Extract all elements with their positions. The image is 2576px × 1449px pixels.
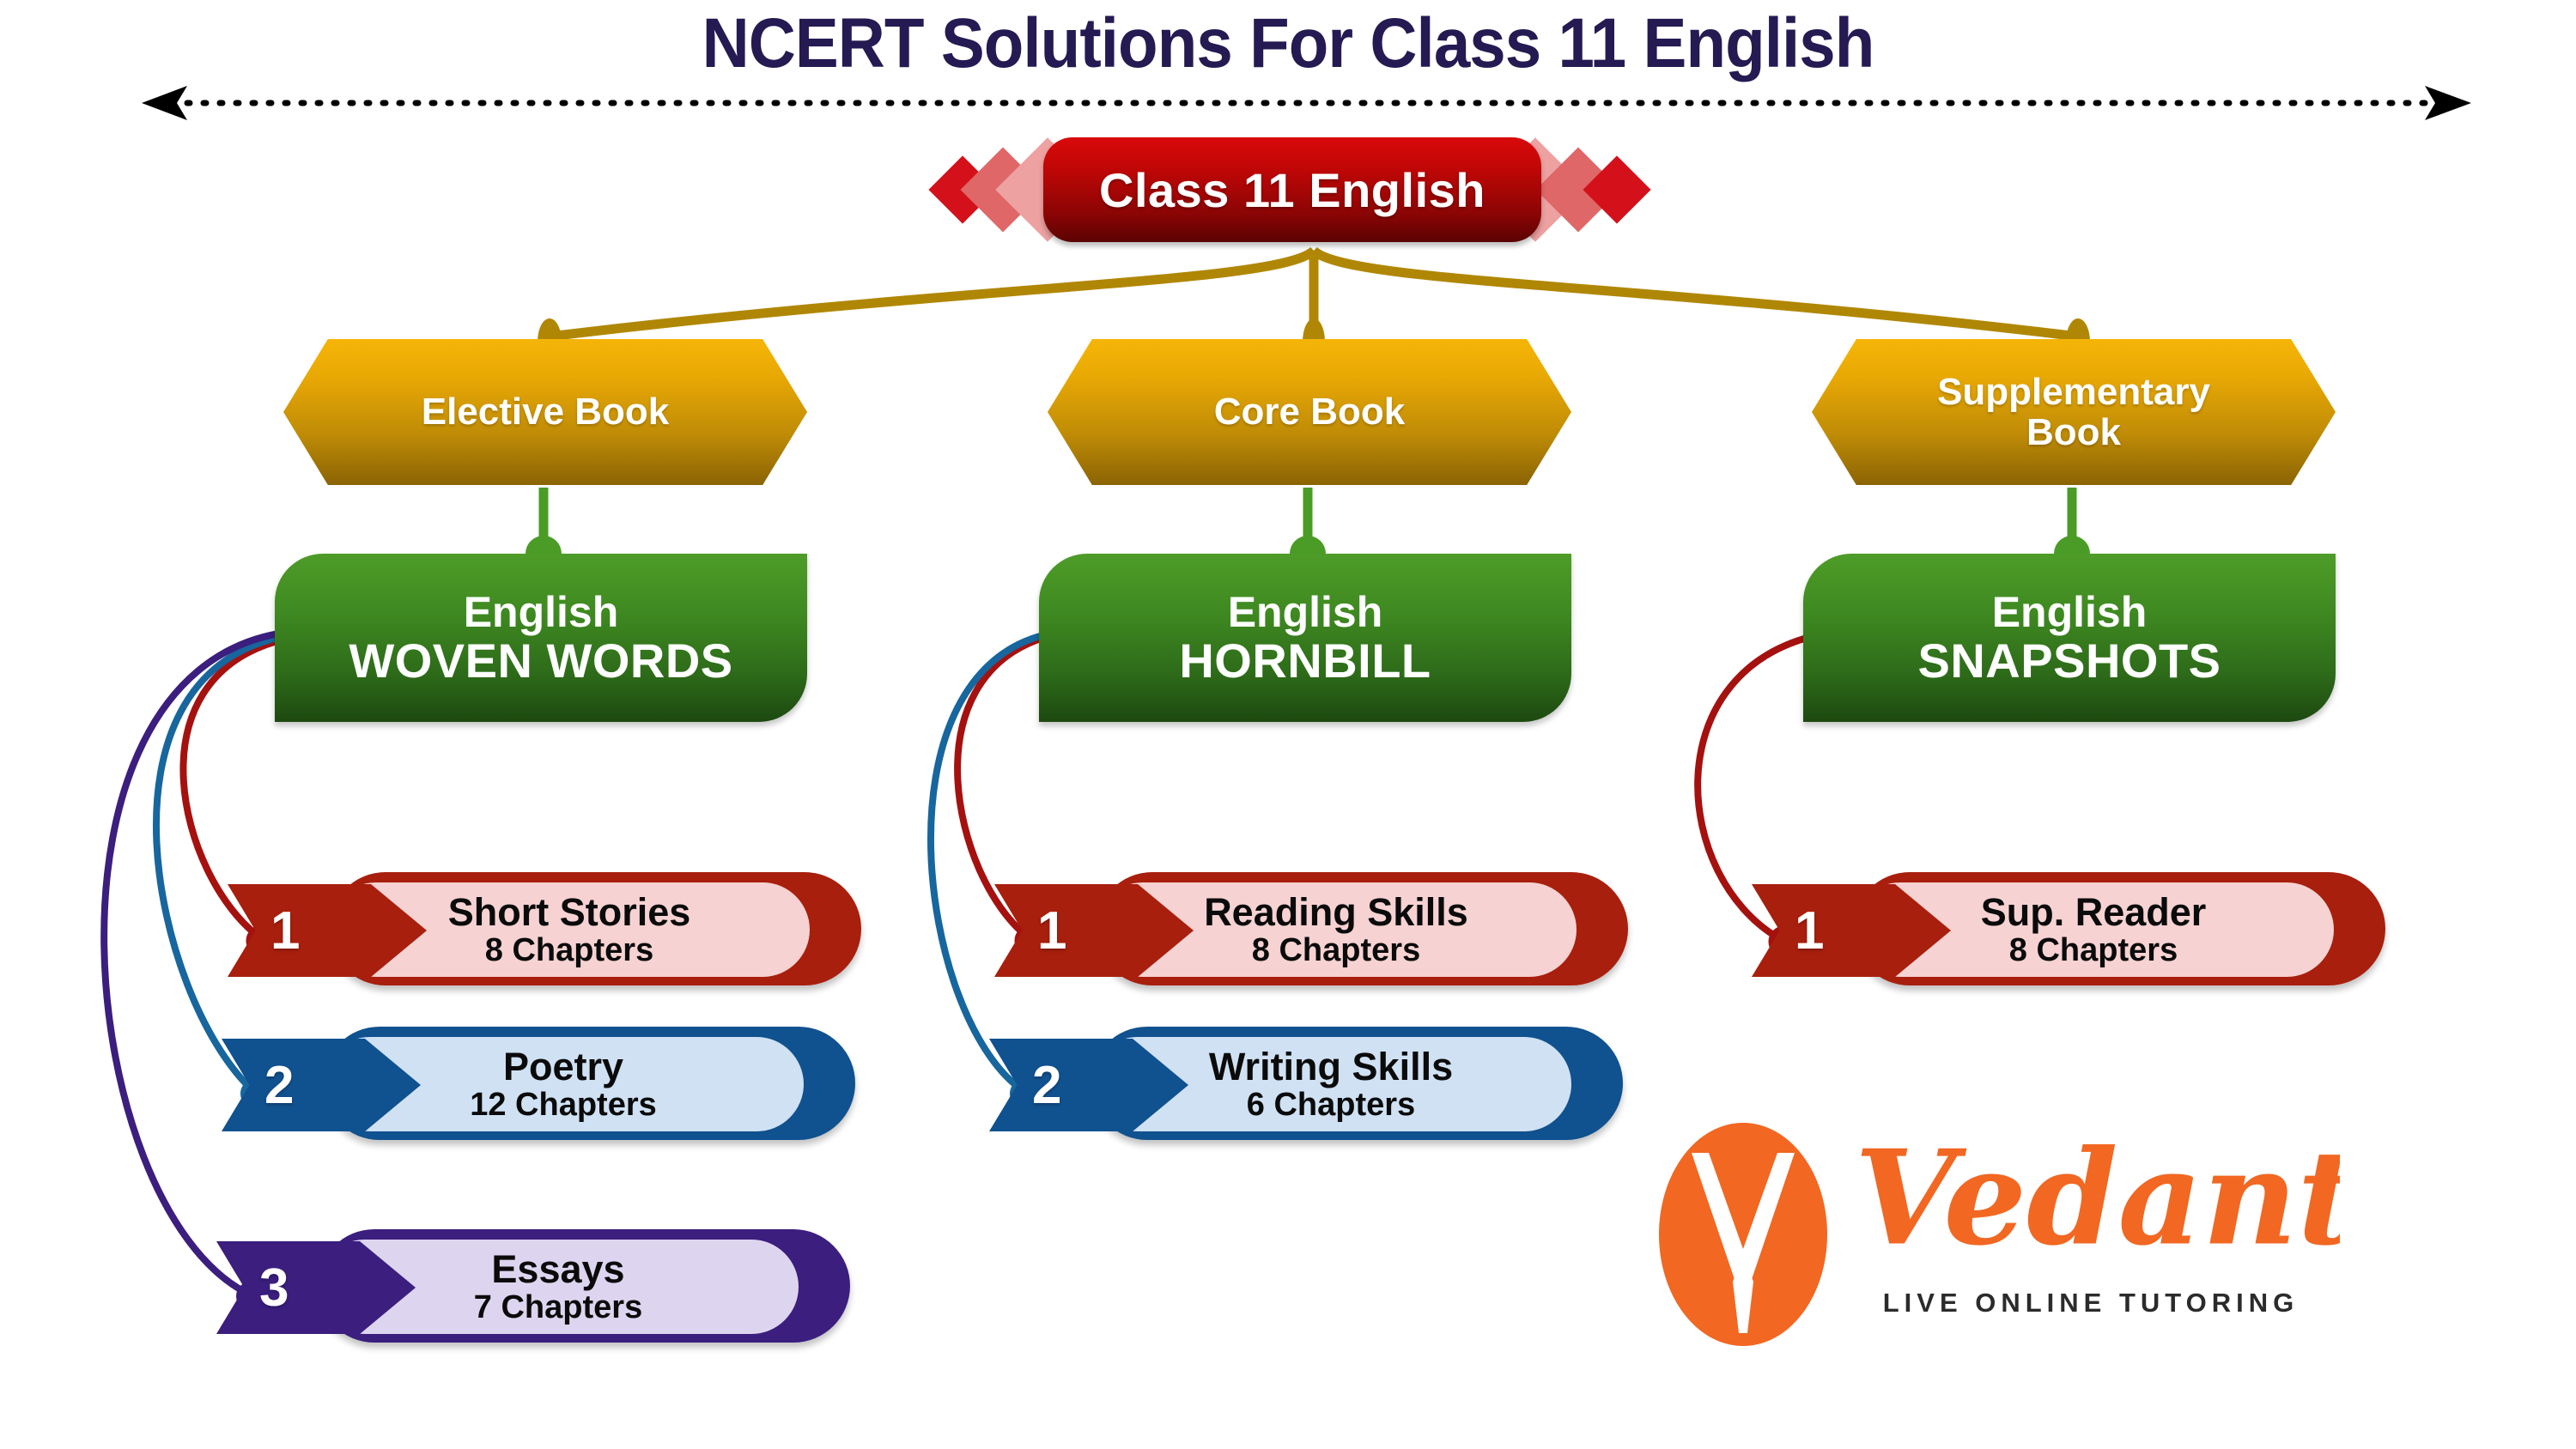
chapter-row-essays[interactable]: Essays 7 Chapters 3 [216, 1222, 852, 1351]
category-hex-elective[interactable]: Elective Book [283, 339, 807, 485]
chapter-number: 1 [228, 900, 427, 961]
chapter-number: 2 [222, 1055, 421, 1116]
gold-connectors [550, 251, 2078, 336]
chapter-count: 8 Chapters [1252, 933, 1420, 967]
book-line1-woven: English [464, 589, 619, 635]
chapter-row-short-stories[interactable]: Short Stories 8 Chapters 1 [228, 865, 863, 994]
chapter-title: Poetry [503, 1046, 623, 1088]
book-card-snapshots[interactable]: English SNAPSHOTS [1803, 554, 2336, 722]
category-label-core: Core Book [1214, 391, 1405, 432]
chapter-row-reading-skills[interactable]: Reading Skills 8 Chapters 1 [994, 865, 1630, 994]
book-line2-snapshots: SNAPSHOTS [1918, 635, 2221, 687]
chapter-count: 6 Chapters [1247, 1088, 1415, 1122]
chapter-count: 12 Chapters [470, 1088, 657, 1122]
vedantu-tagline: LIVE ONLINE TUTORING [1872, 1288, 2310, 1319]
dotted-double-arrow [142, 86, 2471, 120]
page-title: NCERT Solutions For Class 11 English [90, 3, 2486, 84]
chapter-count: 8 Chapters [2009, 933, 2178, 967]
book-card-hornbill[interactable]: English HORNBILL [1039, 554, 1571, 722]
book-card-woven-words[interactable]: English WOVEN WORDS [275, 554, 807, 722]
book-line1-hornbill: English [1228, 589, 1383, 635]
category-hex-supplementary[interactable]: Supplementary Book [1812, 339, 2336, 485]
chapter-row-sup-reader[interactable]: Sup. Reader 8 Chapters 1 [1752, 865, 2387, 994]
chapter-count: 7 Chapters [474, 1290, 642, 1325]
infographic-canvas: NCERT Solutions For Class 11 English [0, 0, 2576, 1449]
category-label-supplementary-line1: Supplementary [1937, 372, 2210, 412]
category-label-elective: Elective Book [422, 391, 670, 432]
chapter-title: Essays [491, 1249, 624, 1290]
category-hex-core[interactable]: Core Book [1048, 339, 1571, 485]
green-connectors [544, 488, 2072, 549]
vedantu-brand-text: Vedantu [1855, 1121, 2341, 1275]
category-label-supplementary-line2: Book [1937, 412, 2210, 452]
root-node-label: Class 11 English [1043, 137, 1541, 242]
root-node[interactable]: Class 11 English [932, 137, 1653, 249]
chapter-number: 2 [989, 1055, 1188, 1116]
chapter-title: Writing Skills [1209, 1046, 1453, 1088]
book-line2-hornbill: HORNBILL [1179, 635, 1431, 687]
chapter-title: Short Stories [448, 892, 691, 933]
chapter-title: Reading Skills [1204, 892, 1468, 933]
chapter-count: 8 Chapters [485, 933, 653, 967]
vedantu-logo[interactable]: Vedantu LIVE ONLINE TUTORING [1657, 1116, 2344, 1365]
chapter-row-poetry[interactable]: Poetry 12 Chapters 2 [222, 1020, 857, 1149]
chapter-title: Sup. Reader [1981, 892, 2207, 933]
vedantu-v-mark-icon [1657, 1120, 1829, 1352]
chapter-row-writing-skills[interactable]: Writing Skills 6 Chapters 2 [989, 1020, 1625, 1149]
book-line1-snapshots: English [1992, 589, 2148, 635]
chapter-number: 1 [1752, 900, 1951, 961]
book-line2-woven: WOVEN WORDS [349, 635, 732, 687]
vedantu-wordmark: Vedantu [1842, 1121, 2340, 1284]
chapter-number: 1 [994, 900, 1194, 961]
chapter-number: 3 [216, 1258, 416, 1319]
